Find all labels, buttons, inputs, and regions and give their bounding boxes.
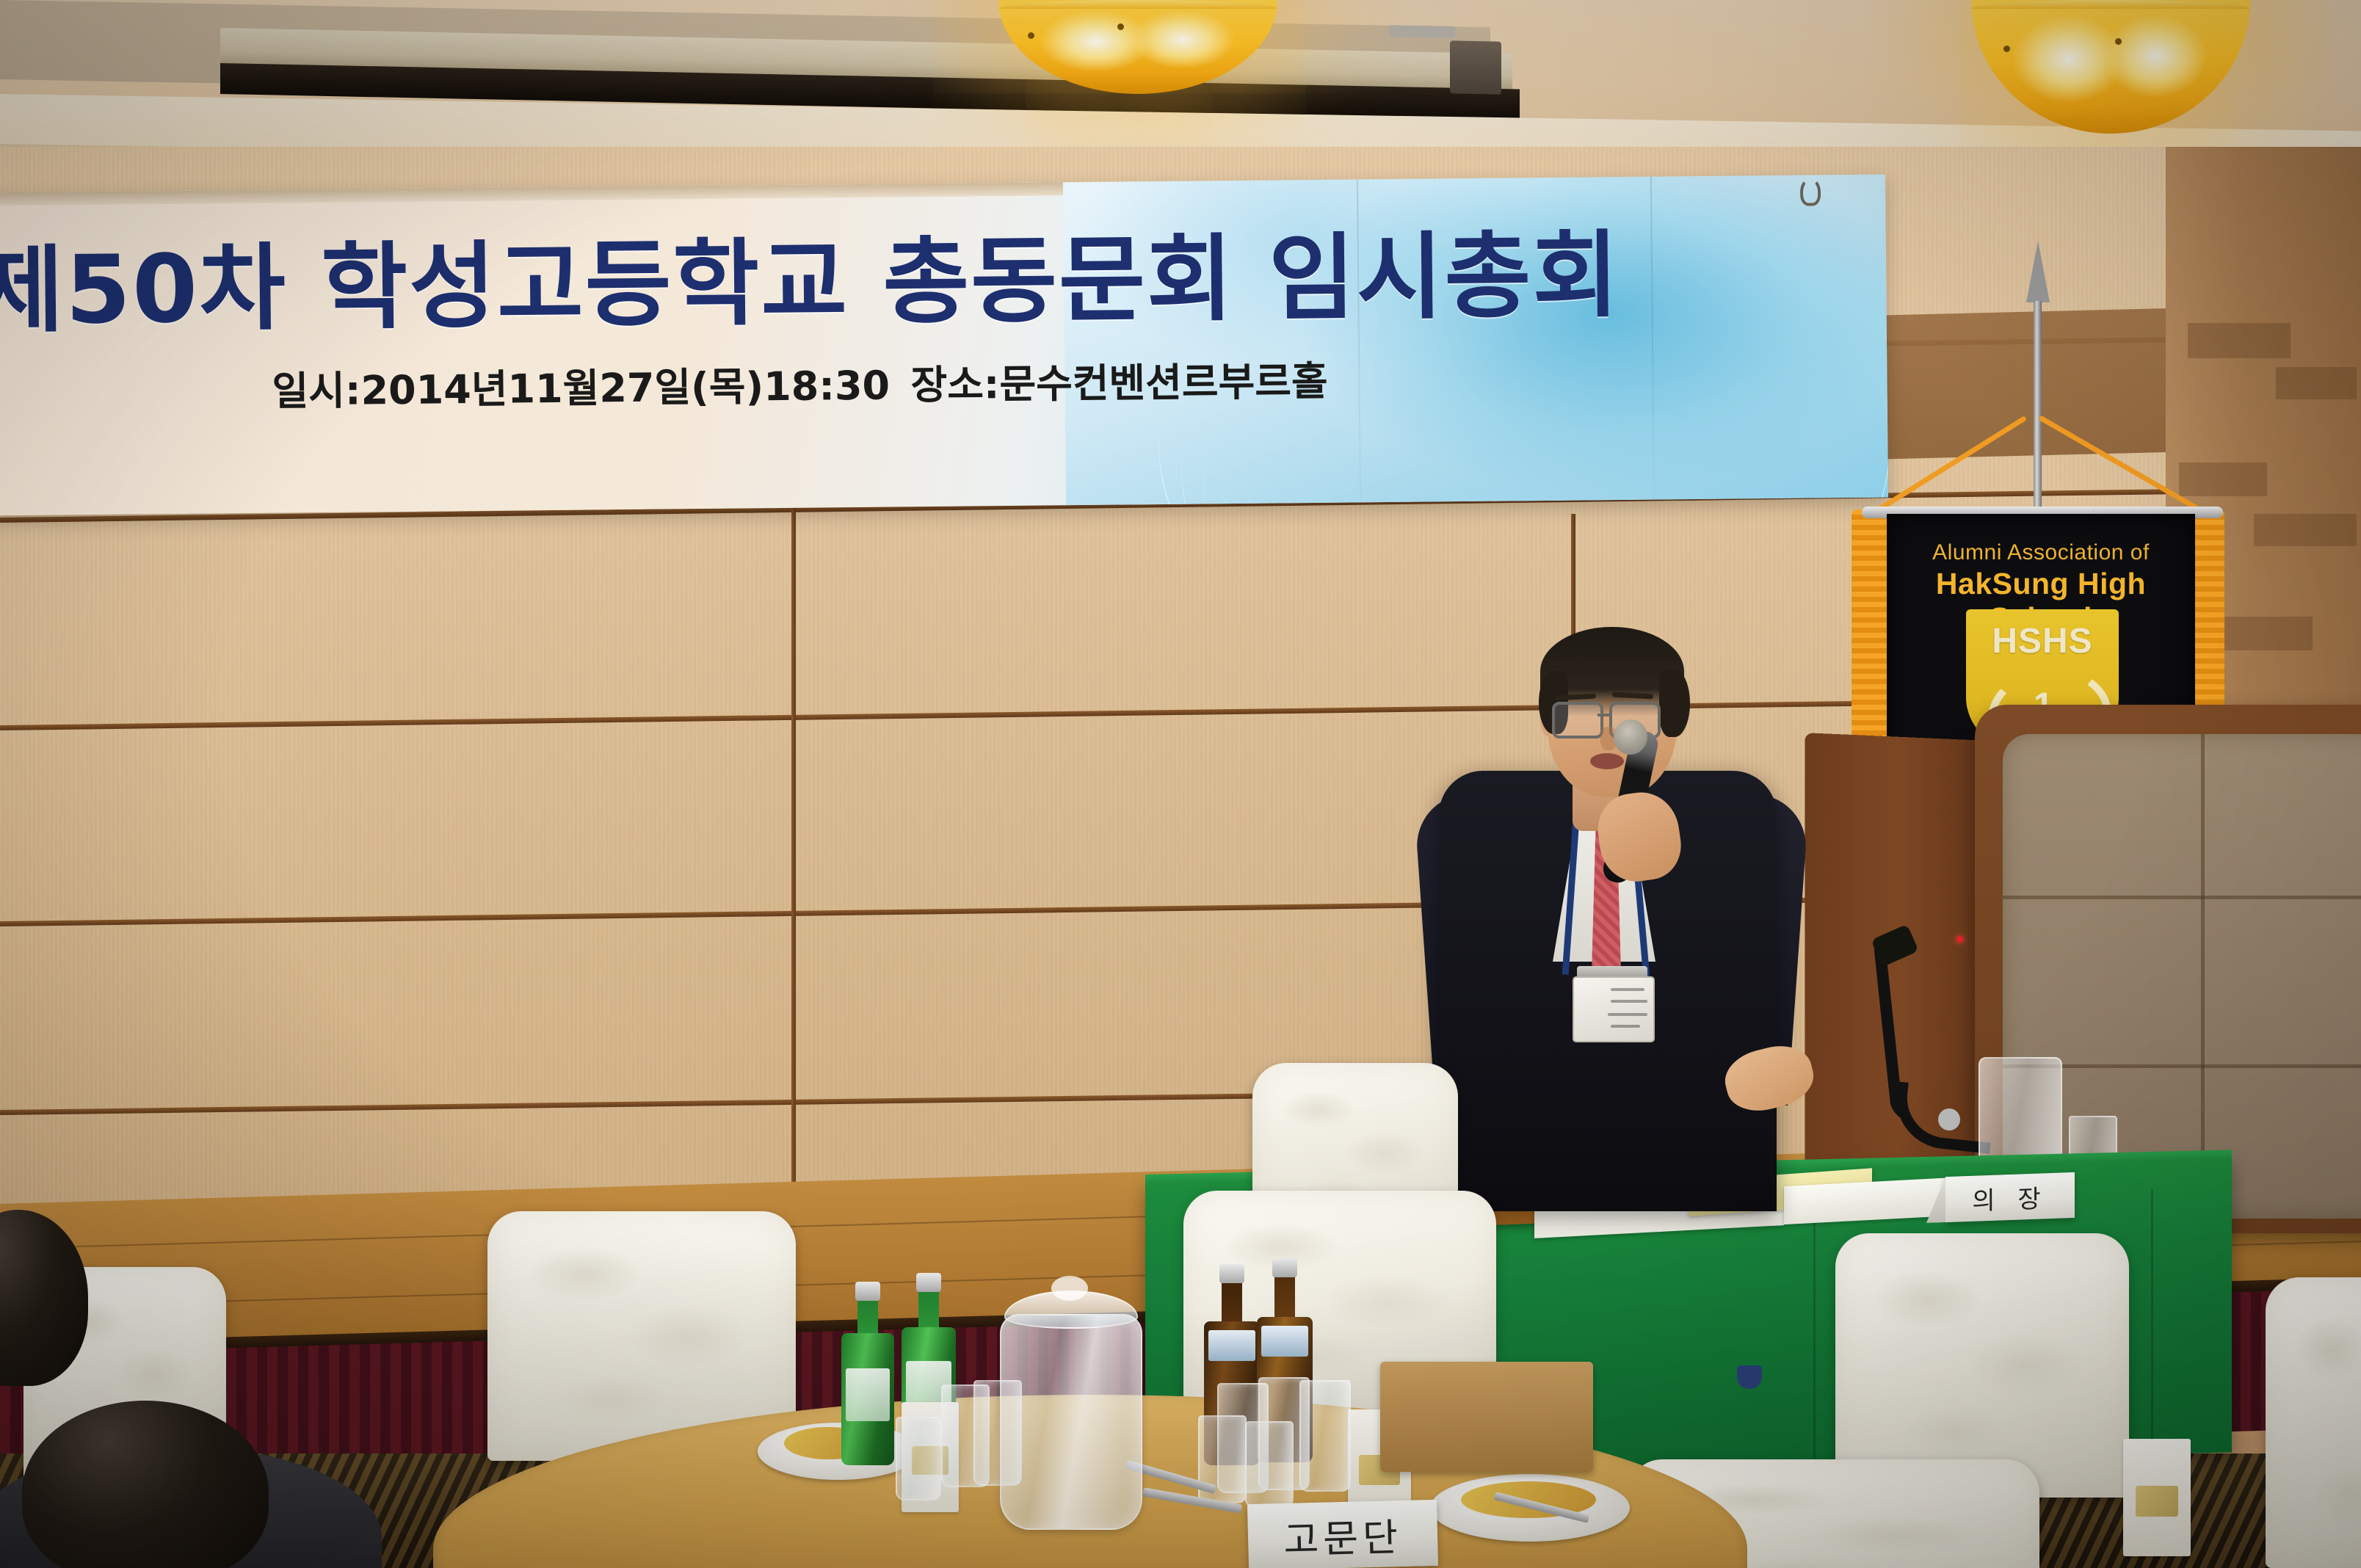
- nameplate-chairman: 의 장: [1945, 1172, 2075, 1222]
- screen-endcap: [1450, 40, 1501, 94]
- nameplate-advisory-text: 고문단: [1283, 1506, 1402, 1564]
- nameplate-advisory-board: 고문단: [1247, 1500, 1438, 1568]
- crest-initials: HSHS: [1966, 621, 2119, 661]
- photo-scene: 제50차 학성고등학교 총동문회 임시총회 일시:2014년11월27일(목)1…: [0, 0, 2361, 1568]
- event-banner: 제50차 학성고등학교 총동문회 임시총회 일시:2014년11월27일(목)1…: [0, 175, 1888, 516]
- head-table-cloth-fold: [1813, 1189, 1816, 1476]
- flag-fringe-left: [1852, 509, 1890, 766]
- chair-right-of-table: [1835, 1233, 2129, 1498]
- speaker-eyeglass-left: [1552, 702, 1603, 738]
- banner-hook-icon: [1800, 178, 1821, 206]
- bread-basket: [1380, 1362, 1593, 1472]
- wall-brick: [2179, 462, 2267, 496]
- podium-led-indicator: [1956, 936, 1963, 943]
- napkin-pattern: [2136, 1486, 2179, 1517]
- drinking-glass: [1245, 1421, 1294, 1508]
- lamp-screw-left: [1028, 32, 1034, 39]
- bottle-cap: [916, 1273, 941, 1292]
- banner-venue: 장소:문수컨벤션르부르홀: [910, 349, 1328, 410]
- wall-brick: [2276, 367, 2357, 399]
- badge-school-logo-icon: [1737, 1365, 1762, 1389]
- flag-finial-icon: [2026, 241, 2050, 302]
- lamp-bowl: [1971, 0, 2250, 134]
- water-pitcher-knob: [1051, 1276, 1088, 1301]
- banner-title: 제50차 학성고등학교 총동문회 임시총회: [0, 200, 1534, 350]
- nameplate-chairman-text: 의 장: [1972, 1178, 2048, 1217]
- wall-brick: [2188, 323, 2291, 358]
- pendant-lamp-right: [1971, 0, 2250, 134]
- speaker-name-badge: [1573, 976, 1655, 1042]
- pendant-lamp-left: [998, 0, 1277, 94]
- lamp-screw-left: [2003, 46, 2010, 52]
- wall-brick: [2254, 514, 2357, 546]
- bottle-label: [846, 1368, 890, 1421]
- speaker-mouth: [1590, 753, 1624, 769]
- water-pitcher: [1000, 1314, 1142, 1530]
- wall-vertical-seam-1: [791, 507, 796, 1241]
- bottle-cap: [855, 1282, 880, 1301]
- green-bottle-1: [841, 1286, 894, 1465]
- screen-bracket: [1389, 25, 1455, 38]
- podium-microphone-tip: [1938, 1108, 1960, 1130]
- drinking-glass: [896, 1417, 941, 1500]
- chair-far-right: [2266, 1277, 2361, 1568]
- head-table-cloth-fold: [2151, 1189, 2153, 1476]
- flag-line1: Alumni Association of: [1887, 540, 2195, 565]
- drinking-glass: [1299, 1380, 1351, 1492]
- lamp-screw-right: [1117, 23, 1124, 30]
- speaker-eyeglass-bridge: [1597, 714, 1611, 716]
- lamp-screw-right: [2115, 38, 2122, 45]
- banner-datetime: 일시:2014년11월27일(목)18:30: [272, 353, 890, 417]
- bottle-cap: [1219, 1264, 1244, 1283]
- bottle-label: [1261, 1326, 1308, 1357]
- speaker-hair-side-right: [1659, 669, 1690, 737]
- napkin-holder-3: [2123, 1439, 2191, 1556]
- lamp-bowl: [998, 0, 1277, 94]
- bottle-cap: [1272, 1258, 1297, 1277]
- bottle-label: [1208, 1330, 1255, 1361]
- speaker-person: [1417, 609, 1799, 1204]
